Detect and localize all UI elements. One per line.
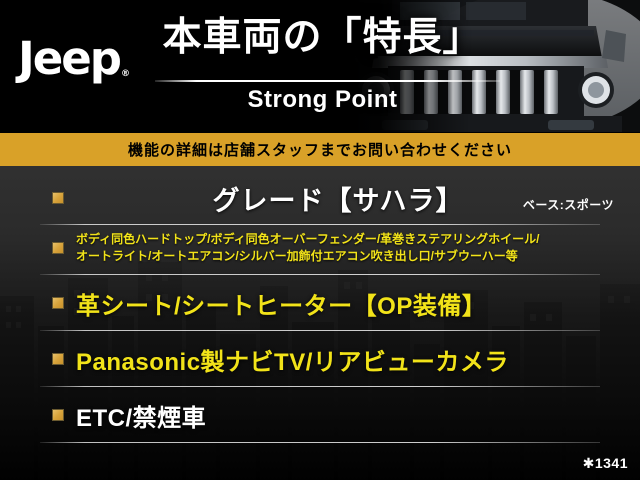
page-title: 本車両の「特長」 bbox=[150, 18, 495, 59]
header-banner: Jeep® 本車両の「特長」 Strong Point bbox=[0, 0, 640, 132]
row-divider bbox=[40, 386, 600, 387]
feature-seats-text: 革シート/シートヒーター【OP装備】 bbox=[76, 286, 640, 321]
feature-row-seats-content: 革シート/シートヒーター【OP装備】 bbox=[76, 286, 640, 321]
row-divider bbox=[40, 224, 600, 225]
square-bullet-icon bbox=[52, 297, 64, 309]
square-bullet-icon bbox=[52, 192, 64, 204]
contact-banner-text: 機能の詳細は店舗スタッフまでお問い合わせください bbox=[128, 139, 512, 160]
square-bullet-icon bbox=[52, 353, 64, 365]
feature-row-equipment-content: ボディ同色ハードトップ/ボディ同色オーバーフェンダー/革巻きステアリングホイール… bbox=[76, 231, 640, 266]
footer-code: ✱1341 bbox=[583, 455, 628, 472]
page-subtitle: Strong Point bbox=[150, 86, 495, 114]
feature-row-navigation-content: Panasonic製ナビTV/リアビューカメラ bbox=[76, 342, 640, 377]
header-divider bbox=[155, 80, 500, 82]
feature-list: グレード【サハラ】 ベース:スポーツ ボディ同色ハードトップ/ボディ同色オーバー… bbox=[0, 166, 640, 480]
row-divider bbox=[40, 330, 600, 331]
feature-row-equipment: ボディ同色ハードトップ/ボディ同色オーバーフェンダー/革巻きステアリングホイール… bbox=[0, 229, 640, 267]
row-divider bbox=[40, 442, 600, 443]
feature-row-seats: 革シート/シートヒーター【OP装備】 bbox=[0, 278, 640, 328]
feature-row-navigation: Panasonic製ナビTV/リアビューカメラ bbox=[0, 334, 640, 384]
feature-rows: グレード【サハラ】 ベース:スポーツ ボディ同色ハードトップ/ボディ同色オーバー… bbox=[0, 166, 640, 480]
row-divider bbox=[40, 274, 600, 275]
feature-row-etc-content: ETC/禁煙車 bbox=[76, 398, 640, 433]
square-bullet-icon bbox=[52, 409, 64, 421]
feature-row-etc: ETC/禁煙車 bbox=[0, 390, 640, 440]
contact-banner: 機能の詳細は店舗スタッフまでお問い合わせください bbox=[0, 133, 640, 166]
strong-point-slide: Jeep® 本車両の「特長」 Strong Point 機能の詳細は店舗スタッフ… bbox=[0, 0, 640, 480]
feature-equipment-line1: ボディ同色ハードトップ/ボディ同色オーバーフェンダー/革巻きステアリングホイール… bbox=[76, 231, 640, 248]
jeep-logo: Jeep® bbox=[18, 36, 129, 81]
registered-mark-icon: ® bbox=[121, 69, 130, 79]
feature-navigation-text: Panasonic製ナビTV/リアビューカメラ bbox=[76, 342, 640, 377]
feature-equipment-line2: オートライト/オートエアコン/シルバー加飾付エアコン吹き出し口/サブウーハー等 bbox=[76, 248, 640, 265]
feature-grade-note: ベース:スポーツ bbox=[523, 196, 614, 213]
square-bullet-icon bbox=[52, 242, 64, 254]
jeep-logo-text: Jeep bbox=[18, 32, 120, 85]
feature-etc-text: ETC/禁煙車 bbox=[76, 398, 640, 433]
